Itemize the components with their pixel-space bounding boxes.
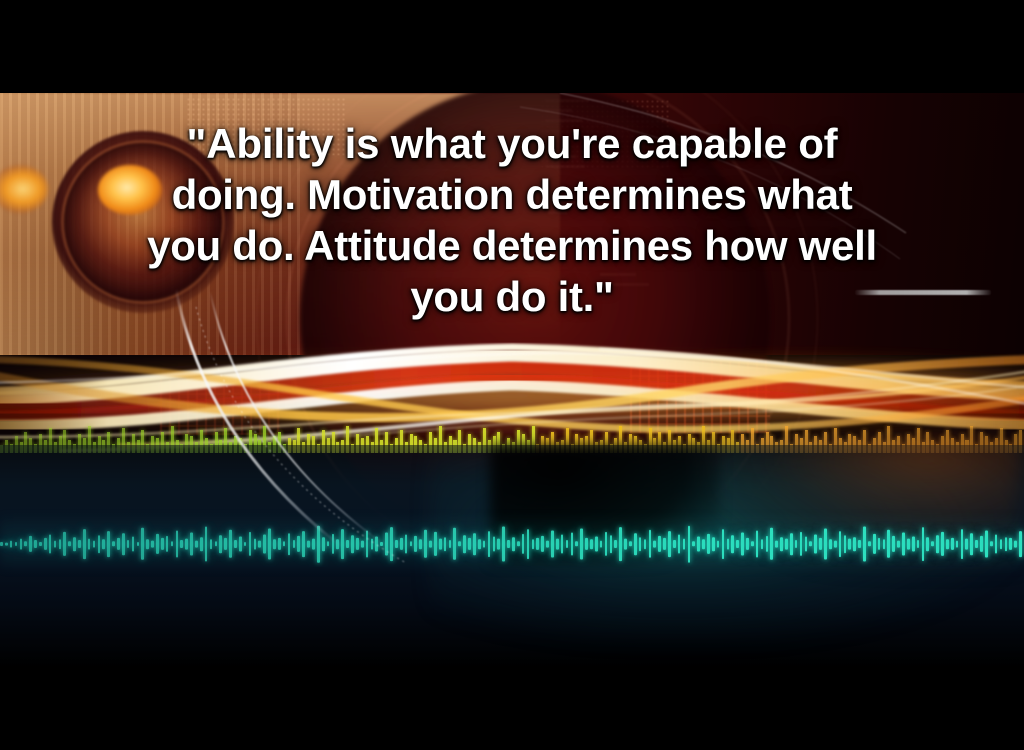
quote-line-2: doing. Motivation determines what	[0, 169, 1024, 220]
quote-text: "Ability is what you're capable of doing…	[0, 118, 1024, 322]
quote-line-1: "Ability is what you're capable of	[0, 118, 1024, 169]
quote-image-canvas: "Ability is what you're capable of doing…	[0, 0, 1024, 750]
quote-line-4: you do it."	[0, 271, 1024, 322]
letterbox-bottom	[0, 668, 1024, 750]
letterbox-top	[0, 0, 1024, 93]
quote-line-3: you do. Attitude determines how well	[0, 220, 1024, 271]
